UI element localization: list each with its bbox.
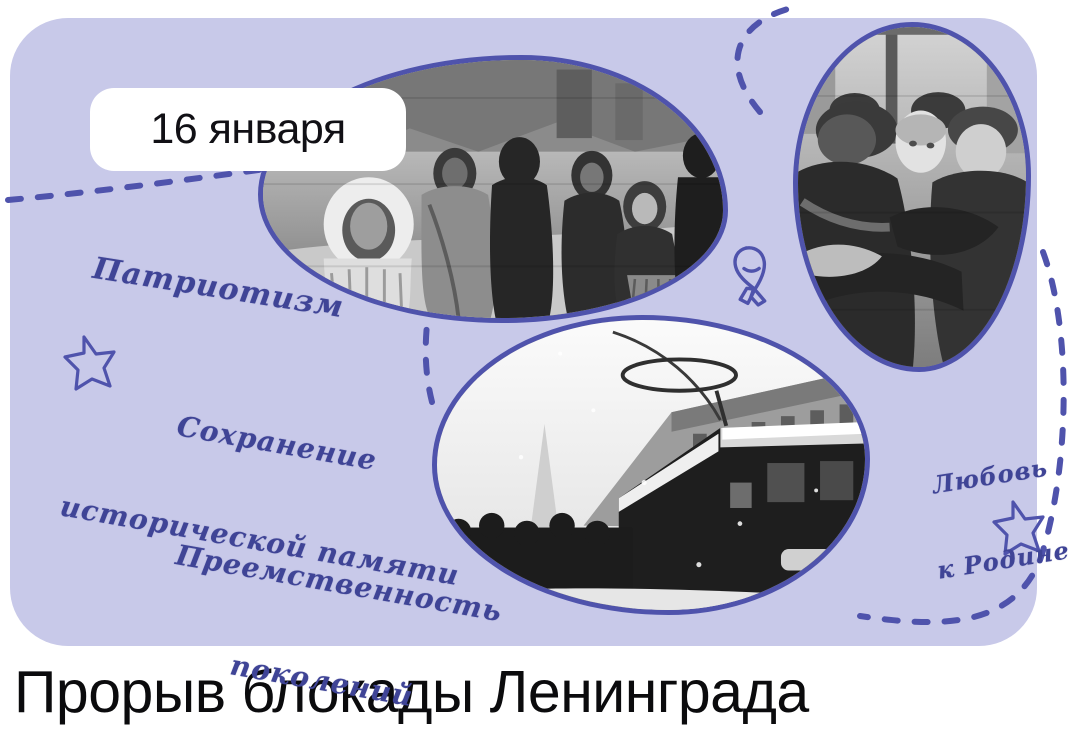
handwritten-love-line1: Любовь — [922, 452, 1058, 501]
date-badge[interactable]: 16 января — [90, 88, 406, 171]
handwritten-continuity-line2: поколений — [156, 636, 488, 726]
poster-root: 16 января Патриотизм Сохранение историче… — [0, 0, 1075, 753]
photo-embrace-image — [798, 27, 1026, 367]
date-badge-label: 16 января — [150, 105, 345, 154]
handwritten-memory-line1: Сохранение — [75, 392, 479, 495]
handwritten-continuity-line1: Преемственность — [173, 538, 505, 628]
handwritten-patriotism-text: Патриотизм — [90, 251, 346, 325]
handwritten-love-line2: к Родине — [935, 536, 1071, 585]
